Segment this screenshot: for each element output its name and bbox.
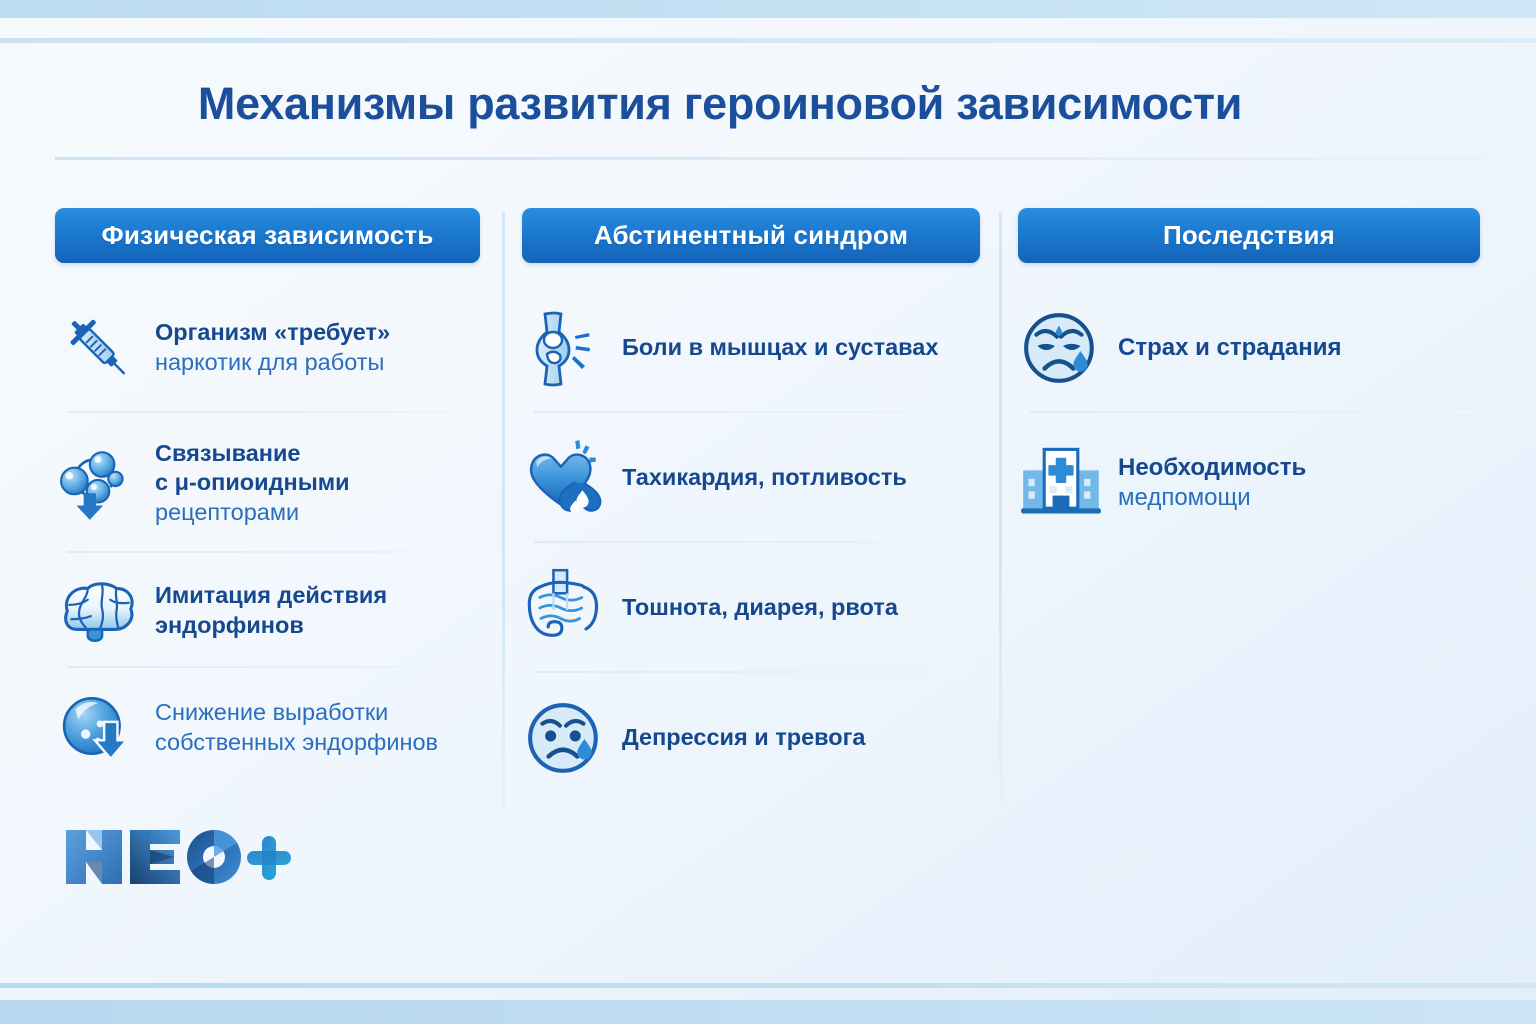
item-list-consequences: Страх и страдания: [1018, 283, 1480, 553]
intestines-icon: [522, 565, 608, 651]
column-consequences: Последствия: [1018, 208, 1480, 553]
item-list-withdrawal-syndrome: Боли в мышцах и суставах: [522, 283, 980, 803]
infographic-page: Механизмы развития героиновой зависимост…: [0, 0, 1536, 1024]
list-item-text: Организм «требует» наркотик для работы: [155, 318, 390, 377]
column-separator-2: [999, 212, 1002, 809]
list-item[interactable]: Тахикардия, потливость: [522, 413, 980, 543]
worried-face-tear-icon: [1018, 305, 1104, 391]
list-item-line: наркотик для работы: [155, 349, 384, 375]
list-item-line: Снижение выработки: [155, 699, 388, 725]
list-item-line: рецепторами: [155, 499, 299, 525]
list-item-text: Имитация действия эндорфинов: [155, 581, 387, 640]
bottom-accent-line: [0, 983, 1536, 988]
column-physical-dependence: Физическая зависимость: [55, 208, 480, 788]
list-item[interactable]: Боли в мышцах и суставах: [522, 283, 980, 413]
list-item-line: Депрессия и тревога: [622, 724, 866, 750]
list-item-line: Тошнота, диарея, рвота: [622, 594, 898, 620]
knee-joint-pain-icon: [522, 305, 608, 391]
list-item[interactable]: Связывание с μ-опиоидными рецепторами: [55, 413, 480, 553]
list-item-text: Депрессия и тревога: [622, 723, 866, 753]
top-decorative-bar: [0, 0, 1536, 18]
top-accent-line: [0, 38, 1536, 43]
column-separator-1: [502, 212, 505, 809]
title-divider: [55, 157, 1485, 160]
page-title: Механизмы развития героиновой зависимост…: [0, 78, 1440, 130]
list-item-line: с μ-опиоидными: [155, 469, 350, 495]
syringe-icon: [55, 305, 141, 391]
list-item-text: Боли в мышцах и суставах: [622, 333, 938, 363]
list-item-text: Снижение выработки собственных эндорфино…: [155, 698, 438, 757]
list-item[interactable]: Страх и страдания: [1018, 283, 1480, 413]
list-item-line: Организм «требует»: [155, 319, 390, 345]
list-item[interactable]: Необходимость медпомощи: [1018, 413, 1480, 553]
list-item-line: Боли в мышцах и суставах: [622, 334, 938, 360]
column-header-physical-dependence[interactable]: Физическая зависимость: [55, 208, 480, 263]
list-item[interactable]: Снижение выработки собственных эндорфино…: [55, 668, 480, 788]
endorphin-decrease-icon: [55, 685, 141, 771]
heart-sweat-icon: [522, 435, 608, 521]
brain-icon: [55, 568, 141, 654]
list-item-line: эндорфинов: [155, 612, 304, 638]
columns-container: Физическая зависимость: [0, 208, 1536, 818]
list-item-line: Имитация действия: [155, 582, 387, 608]
column-header-consequences[interactable]: Последствия: [1018, 208, 1480, 263]
list-item-text: Тошнота, диарея, рвота: [622, 593, 898, 623]
list-item-line: Страх и страдания: [1118, 334, 1341, 361]
bottom-decorative-bar: [0, 1000, 1536, 1024]
molecule-binding-icon: [55, 440, 141, 526]
sad-face-tear-icon: [522, 695, 608, 781]
hospital-icon: [1018, 440, 1104, 526]
list-item-line: Необходимость: [1118, 454, 1306, 481]
list-item[interactable]: Тошнота, диарея, рвота: [522, 543, 980, 673]
list-item-text: Тахикардия, потливость: [622, 463, 907, 493]
list-item-line: собственных эндорфинов: [155, 729, 438, 755]
list-item-line: медпомощи: [1118, 484, 1251, 511]
item-list-physical-dependence: Организм «требует» наркотик для работы: [55, 283, 480, 788]
list-item[interactable]: Депрессия и тревога: [522, 673, 980, 803]
list-item[interactable]: Организм «требует» наркотик для работы: [55, 283, 480, 413]
list-item[interactable]: Имитация действия эндорфинов: [55, 553, 480, 668]
brand-logo[interactable]: [62, 822, 292, 892]
list-item-text: Необходимость медпомощи: [1118, 453, 1306, 513]
list-item-line: Связывание: [155, 440, 301, 466]
column-withdrawal-syndrome: Абстинентный синдром: [522, 208, 980, 803]
list-item-line: Тахикардия, потливость: [622, 464, 907, 490]
list-item-text: Страх и страдания: [1118, 333, 1341, 363]
list-item-text: Связывание с μ-опиоидными рецепторами: [155, 439, 350, 528]
column-header-withdrawal-syndrome[interactable]: Абстинентный синдром: [522, 208, 980, 263]
